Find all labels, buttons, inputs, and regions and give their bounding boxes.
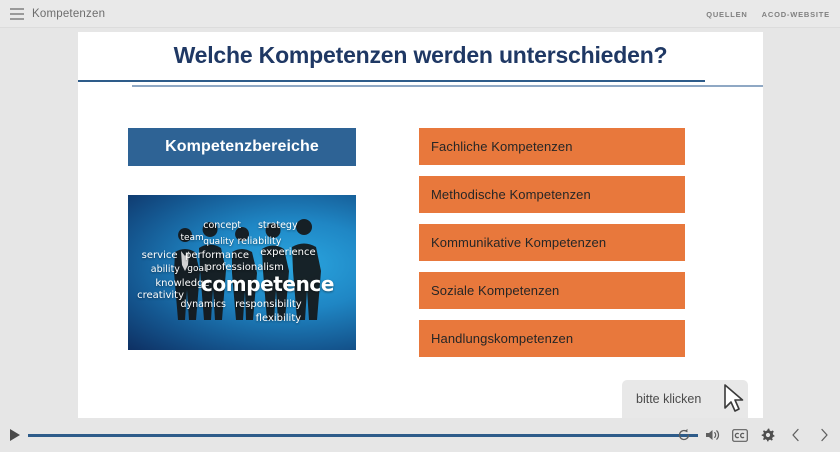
title-rule-light [132,85,763,87]
slide-stage: Welche Kompetenzen werden unterschieden?… [78,32,763,418]
category-chip-label: Kompetenzbereiche [165,138,319,156]
top-bar-links: QUELLEN ACOD-WEBSITE [706,0,830,28]
competence-options-list: Fachliche Kompetenzen Methodische Kompet… [419,128,685,357]
progress-seekbar[interactable] [28,434,698,437]
menu-line [10,18,24,20]
closed-captions-icon[interactable] [732,427,748,443]
option-label: Soziale Kompetenzen [431,283,559,298]
option-label: Handlungskompetenzen [431,331,573,346]
progress-fill [28,434,698,437]
option-soziale-kompetenzen[interactable]: Soziale Kompetenzen [419,272,685,309]
player-control-bar [0,418,840,452]
course-title: Kompetenzen [32,0,105,28]
hint-tooltip-label: bitte klicken [636,392,701,406]
people-silhouettes-icon [128,195,356,350]
menu-line [10,8,24,10]
mouse-cursor-arrow-icon [723,384,745,412]
option-label: Methodische Kompetenzen [431,187,591,202]
option-kommunikative-kompetenzen[interactable]: Kommunikative Kompetenzen [419,224,685,261]
menu-line [10,13,24,15]
option-fachliche-kompetenzen[interactable]: Fachliche Kompetenzen [419,128,685,165]
player-icon-group [676,418,832,452]
link-acod-website[interactable]: ACOD-WEBSITE [762,10,830,19]
volume-icon[interactable] [704,427,720,443]
play-icon[interactable] [8,428,22,442]
option-methodische-kompetenzen[interactable]: Methodische Kompetenzen [419,176,685,213]
slide-title: Welche Kompetenzen werden unterschieden? [78,42,763,69]
option-label: Kommunikative Kompetenzen [431,235,606,250]
next-slide-icon[interactable] [816,427,832,443]
replay-icon[interactable] [676,427,692,443]
settings-gear-icon[interactable] [760,427,776,443]
option-handlungskompetenzen[interactable]: Handlungskompetenzen [419,320,685,357]
hamburger-menu-icon[interactable] [10,8,24,20]
elearning-player: Kompetenzen QUELLEN ACOD-WEBSITE Welche … [0,0,840,452]
link-quellen[interactable]: QUELLEN [706,10,747,19]
previous-slide-icon[interactable] [788,427,804,443]
top-bar: Kompetenzen QUELLEN ACOD-WEBSITE [0,0,840,28]
title-rule-dark [78,80,705,82]
option-label: Fachliche Kompetenzen [431,139,573,154]
competence-word-cloud-image: concept strategy team quality reliabilit… [128,195,356,350]
category-chip-kompetenzbereiche[interactable]: Kompetenzbereiche [128,128,356,166]
